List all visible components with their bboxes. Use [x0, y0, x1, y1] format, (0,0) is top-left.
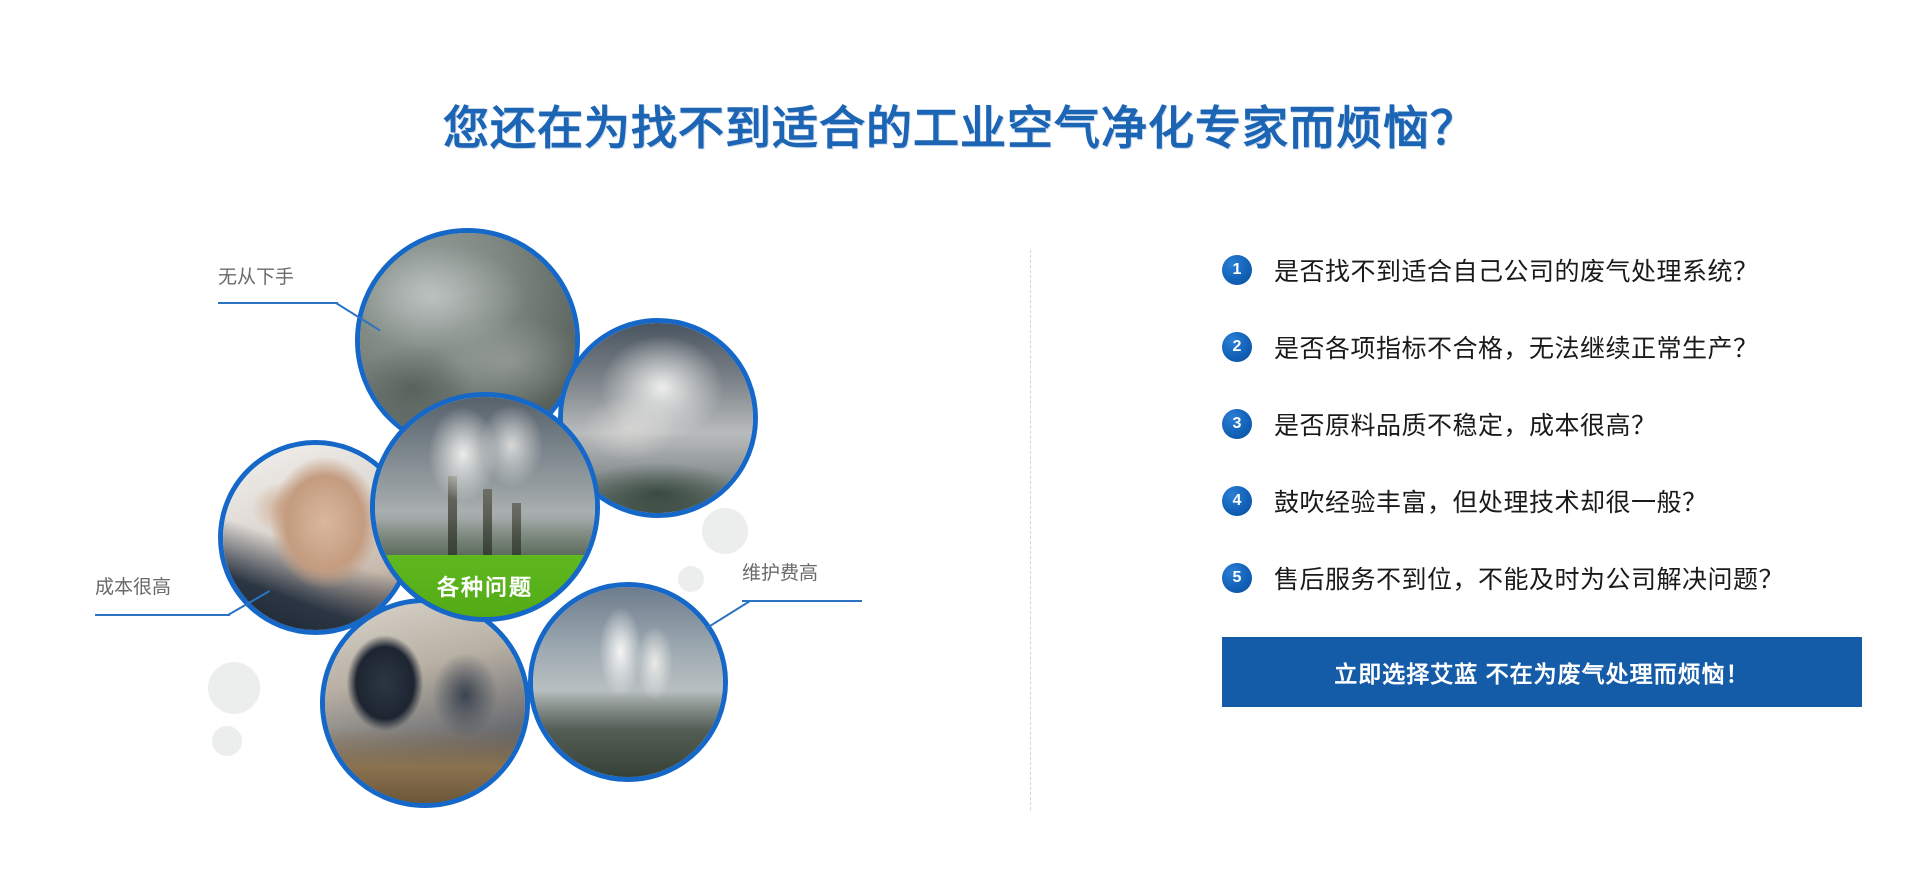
page-title: 您还在为找不到适合的工业空气净化专家而烦恼？	[0, 92, 1920, 158]
decorative-dot	[212, 726, 242, 756]
decorative-dot	[702, 508, 748, 554]
list-item: 3 是否原料品质不稳定，成本很高？	[1222, 406, 1862, 442]
number-badge-4: 4	[1222, 486, 1252, 516]
leader-line	[742, 600, 862, 602]
list-item: 5 售后服务不到位，不能及时为公司解决问题？	[1222, 560, 1862, 596]
bubble-business-meeting-complaint	[320, 598, 530, 808]
number-badge-3: 3	[1222, 409, 1252, 439]
number-badge-1: 1	[1222, 255, 1252, 285]
callout-label-weihufeigao: 维护费高	[742, 558, 818, 585]
pain-point-list: 1 是否找不到适合自己公司的废气处理系统？ 2 是否各项指标不合格，无法继续正常…	[1222, 252, 1862, 707]
question-text-1: 是否找不到适合自己公司的废气处理系统？	[1274, 252, 1759, 288]
list-item: 1 是否找不到适合自己公司的废气处理系统？	[1222, 252, 1862, 288]
landing-page-section: 您还在为找不到适合的工业空气净化专家而烦恼？	[0, 0, 1920, 875]
center-badge-label: 各种问题	[375, 555, 595, 617]
bubble-center-smokestacks: 各种问题	[370, 392, 600, 622]
list-item: 4 鼓吹经验丰富，但处理技术却很一般？	[1222, 483, 1862, 519]
bubble-image-business-meeting-complaint	[325, 603, 525, 803]
smokestack-icon	[437, 476, 534, 564]
question-text-2: 是否各项指标不合格，无法继续正常生产？	[1274, 329, 1759, 365]
vertical-divider	[1030, 250, 1031, 810]
number-badge-5: 5	[1222, 563, 1252, 593]
decorative-dot	[208, 662, 260, 714]
number-badge-2: 2	[1222, 332, 1252, 362]
problem-bubble-diagram: 各种问题 无从下手 维护费高 成本很高 太复杂 经常抱怨	[0, 210, 1010, 870]
cta-button[interactable]: 立即选择艾蓝 不在为废气处理而烦恼！	[1222, 637, 1862, 707]
callout-label-chengbenhengao: 成本很高	[95, 572, 171, 599]
list-item: 2 是否各项指标不合格，无法继续正常生产？	[1222, 329, 1862, 365]
question-text-3: 是否原料品质不稳定，成本很高？	[1274, 406, 1657, 442]
callout-label-wucongxiashou: 无从下手	[218, 262, 294, 289]
question-text-5: 售后服务不到位，不能及时为公司解决问题？	[1274, 560, 1784, 596]
question-text-4: 鼓吹经验丰富，但处理技术却很一般？	[1274, 483, 1708, 519]
leader-line	[218, 302, 338, 304]
leader-line	[95, 614, 230, 616]
